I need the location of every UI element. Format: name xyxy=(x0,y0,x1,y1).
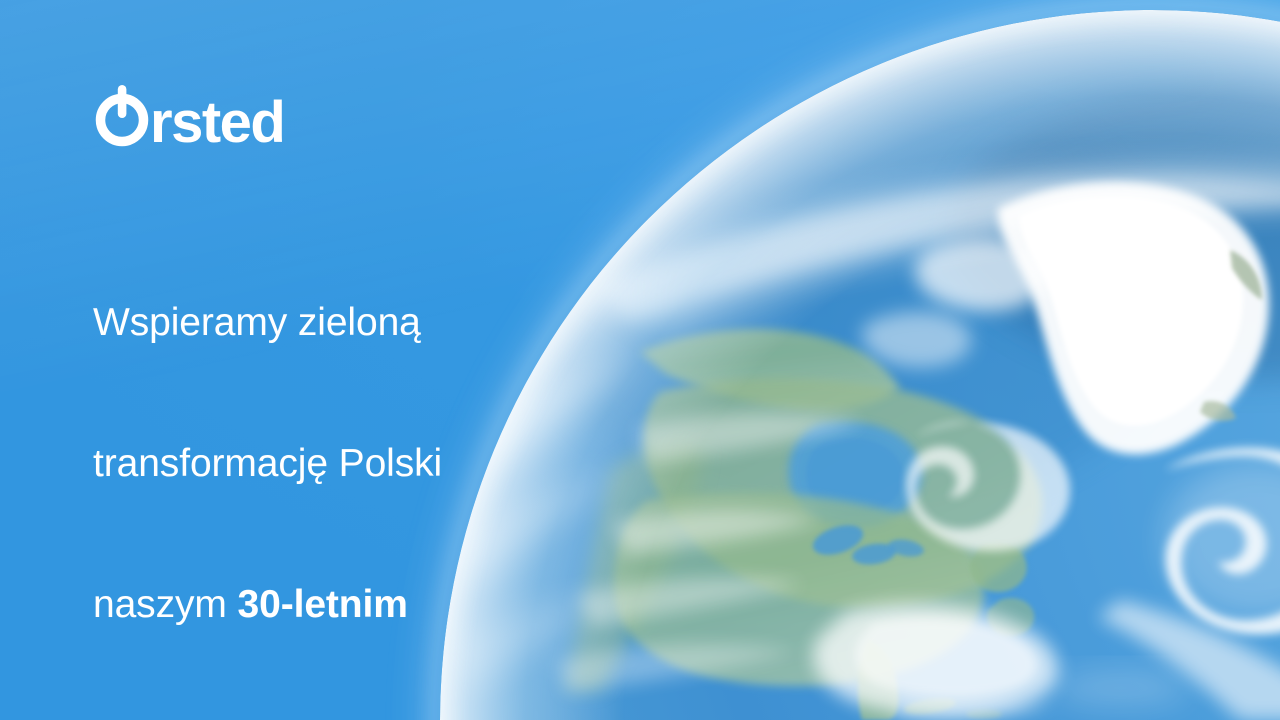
headline: Wspieramy zieloną transformację Polski n… xyxy=(93,205,513,720)
headline-line-2: transformację Polski xyxy=(93,440,513,487)
headline-line-1: Wspieramy zieloną xyxy=(93,299,513,346)
promotional-banner: rsted Wspieramy zieloną transformację Po… xyxy=(0,0,1280,720)
orsted-wordmark: rsted xyxy=(150,90,284,150)
headline-line-3: naszym 30-letnim xyxy=(93,581,513,628)
orsted-power-o-icon xyxy=(101,85,144,142)
svg-text:rsted: rsted xyxy=(150,90,284,150)
orsted-logo[interactable]: rsted xyxy=(92,84,322,150)
orsted-logo-svg: rsted xyxy=(92,84,322,150)
